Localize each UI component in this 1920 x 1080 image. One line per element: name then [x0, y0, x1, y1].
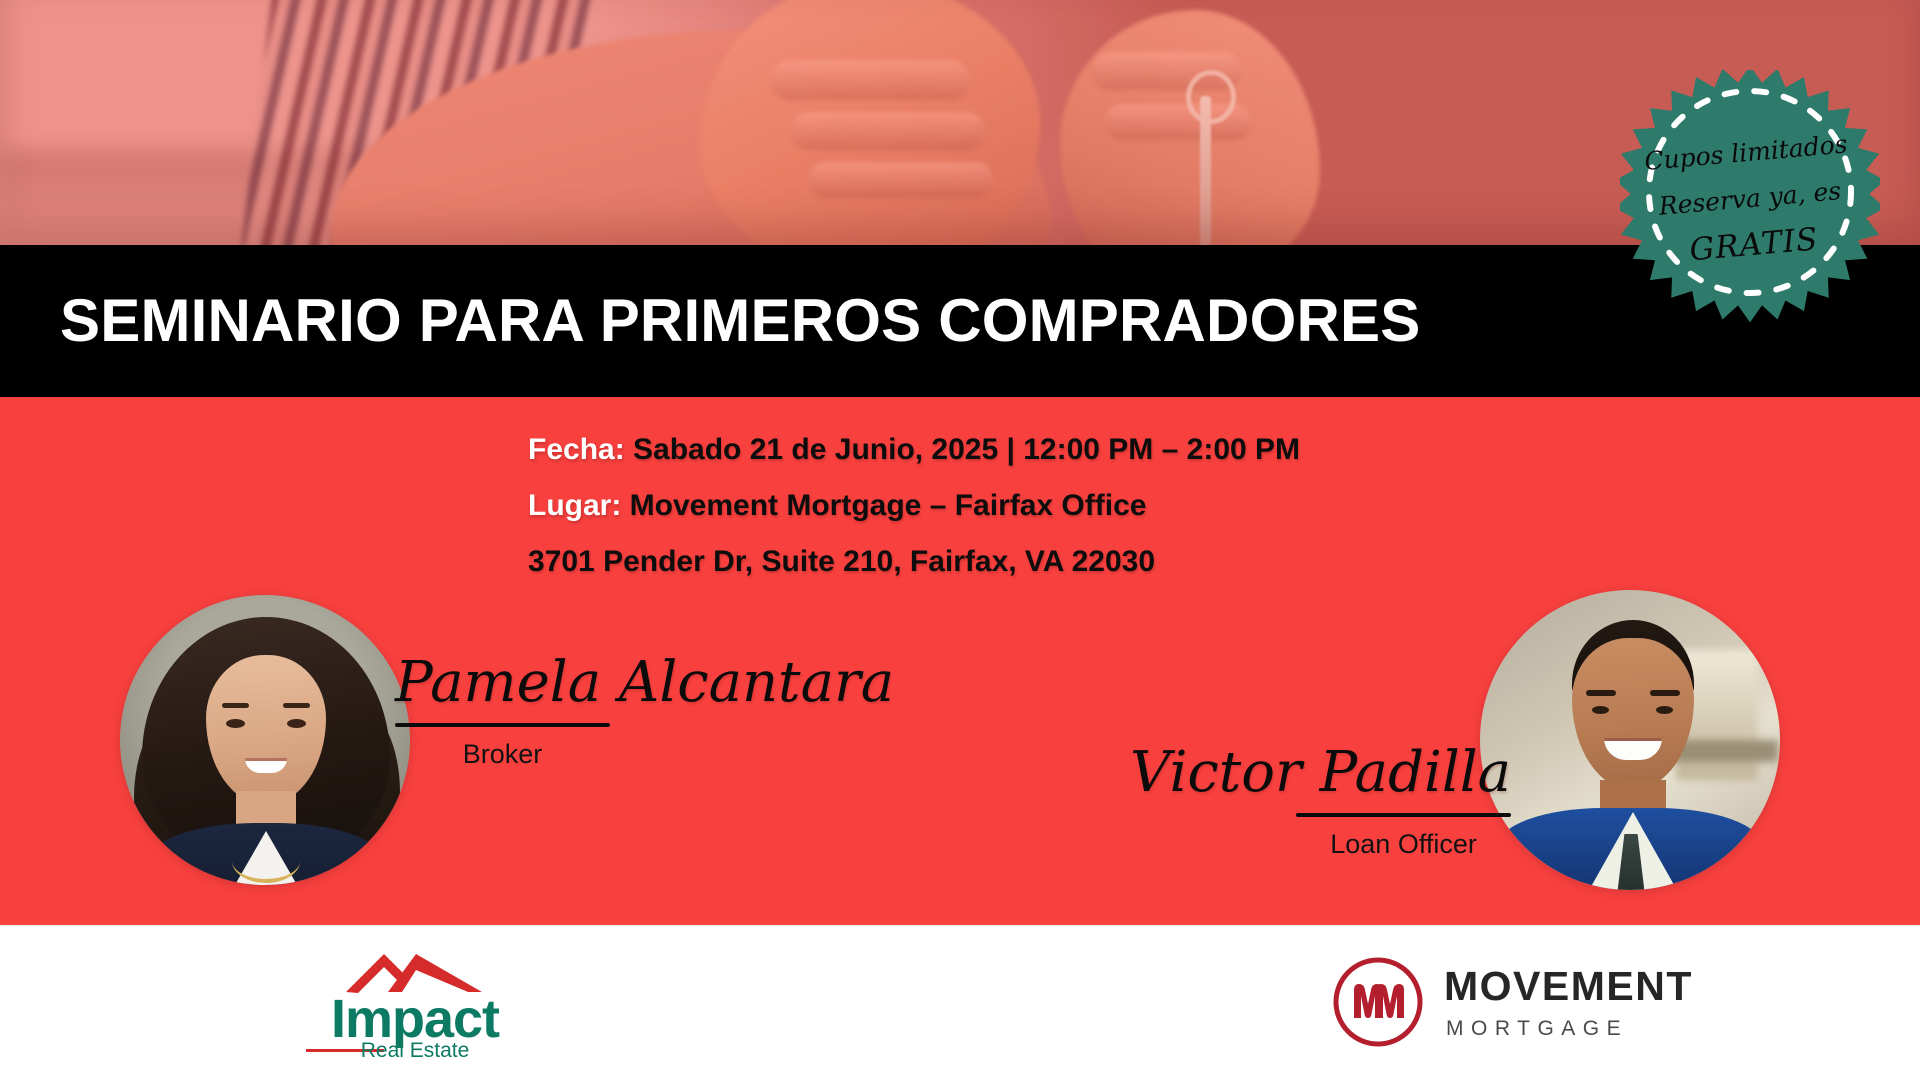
photo-eyebrow: [1586, 690, 1616, 696]
badge-line-2: Reserva ya, es: [1658, 178, 1842, 219]
badge-text-block: Cupos limitados Reserva ya, es GRATIS: [1609, 59, 1891, 341]
detail-value-address: 3701 Pender Dr, Suite 210, Fairfax, VA 2…: [528, 545, 1155, 578]
photo-necklace: [232, 839, 300, 883]
photo-eyebrow: [1650, 690, 1680, 696]
detail-value-venue: Movement Mortgage – Fairfax Office: [630, 489, 1147, 522]
avatar-victor: [1480, 590, 1780, 890]
detail-value-date: Sabado 21 de Junio, 2025 | 12:00 PM – 2:…: [633, 433, 1300, 466]
avatar-photo-man: [1480, 590, 1780, 890]
photo-eye: [1592, 706, 1609, 714]
person-role-pamela: Broker: [395, 741, 610, 768]
impact-logo-tagline: Real Estate: [300, 1040, 530, 1061]
impact-real-estate-logo: Impact Real Estate: [300, 948, 530, 1060]
person-name-pamela: Pamela Alcantara: [395, 655, 894, 711]
detail-row-address: 3701 Pender Dr, Suite 210, Fairfax, VA 2…: [528, 547, 1300, 577]
signature-rule: [1296, 813, 1511, 817]
promo-badge: Cupos limitados Reserva ya, es GRATIS: [1620, 70, 1880, 330]
badge-line-1: Cupos limitados: [1643, 131, 1848, 174]
movement-mortgage-logo: MOVEMENT MORTGAGE: [1332, 952, 1692, 1056]
movement-logo-name: MOVEMENT: [1444, 966, 1693, 1007]
roof-peaks-icon: [344, 948, 484, 994]
photo-eye: [1656, 706, 1673, 714]
flyer-canvas: Cupos limitados Reserva ya, es GRATIS SE…: [0, 0, 1920, 1080]
person-block-victor: Victor Padilla Loan Officer: [1130, 745, 1511, 858]
event-details-block: Fecha: Sabado 21 de Junio, 2025 | 12:00 …: [528, 435, 1300, 603]
mm-monogram-icon: [1332, 956, 1424, 1048]
detail-row-venue: Lugar: Movement Mortgage – Fairfax Offic…: [528, 491, 1300, 521]
avatar-pamela: [120, 595, 410, 885]
footer-logos: Impact Real Estate MOVEMENT MORTGAGE: [0, 925, 1920, 1080]
person-block-pamela: Pamela Alcantara Broker: [395, 655, 894, 768]
page-title: SEMINARIO PARA PRIMEROS COMPRADORES: [60, 291, 1420, 351]
badge-line-3: GRATIS: [1688, 224, 1819, 266]
impact-logo-name: Impact: [300, 992, 530, 1046]
movement-logo-tagline: MORTGAGE: [1446, 1018, 1628, 1039]
photo-eye: [287, 719, 306, 728]
detail-label-date: Fecha:: [528, 433, 633, 466]
photo-eye: [226, 719, 245, 728]
person-role-victor: Loan Officer: [1296, 831, 1511, 858]
detail-row-date: Fecha: Sabado 21 de Junio, 2025 | 12:00 …: [528, 435, 1300, 465]
photo-eyebrow: [283, 703, 310, 708]
detail-label-venue: Lugar:: [528, 489, 630, 522]
avatar-photo-woman: [120, 595, 410, 885]
person-name-victor: Victor Padilla: [1130, 745, 1511, 801]
signature-rule: [395, 723, 610, 727]
photo-eyebrow: [222, 703, 249, 708]
